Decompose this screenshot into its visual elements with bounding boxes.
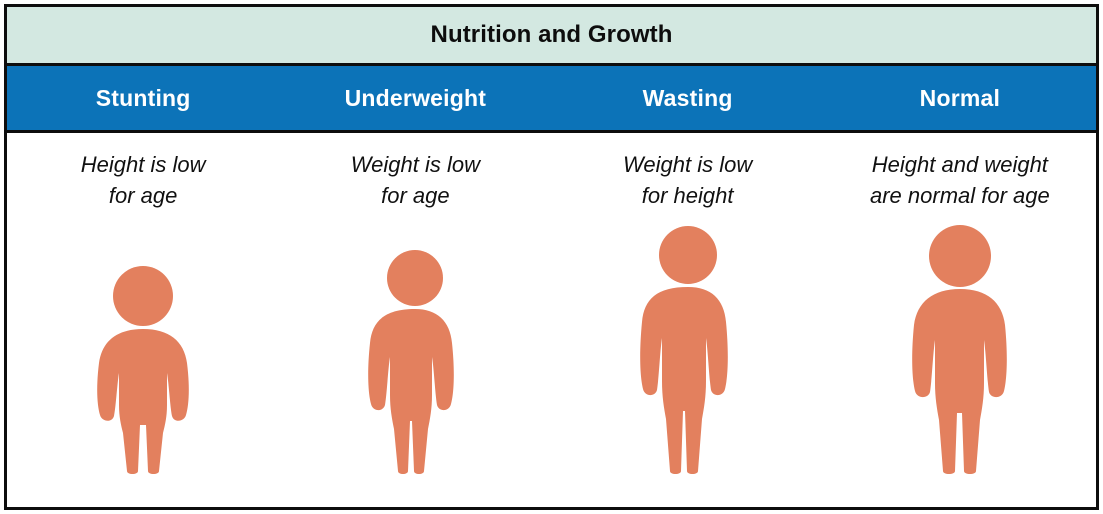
column-header-label: Underweight	[345, 85, 486, 112]
person-icon-tall-thin	[363, 249, 467, 477]
table-title-band: Nutrition and Growth	[7, 7, 1096, 66]
column-header-wasting: Wasting	[552, 66, 824, 130]
caption-stunting: Height is low for age	[81, 149, 206, 211]
column-header-row: Stunting Underweight Wasting Normal	[7, 66, 1096, 133]
figure-wrap-stunting	[7, 265, 279, 477]
caption-wasting: Weight is low for height	[623, 149, 752, 211]
body-cell-normal: Height and weight are normal for age	[824, 133, 1096, 507]
nutrition-growth-table: Nutrition and Growth Stunting Underweigh…	[4, 4, 1099, 510]
page-title: Nutrition and Growth	[431, 21, 673, 49]
figure-wrap-wasting	[552, 225, 824, 477]
body-cell-stunting: Height is low for age	[7, 133, 279, 507]
figure-wrap-normal	[824, 225, 1096, 477]
table-body-row: Height is low for age Weight is low for …	[7, 133, 1096, 507]
caption-underweight: Weight is low for age	[351, 149, 480, 211]
column-header-normal: Normal	[824, 66, 1096, 130]
person-icon-tall-thin	[635, 225, 741, 477]
column-header-label: Stunting	[96, 85, 191, 112]
person-icon-tall-normal	[899, 225, 1021, 477]
body-cell-wasting: Weight is low for height	[552, 133, 824, 507]
person-icon-short-stocky	[84, 265, 202, 477]
column-header-label: Wasting	[643, 85, 733, 112]
body-cell-underweight: Weight is low for age	[279, 133, 551, 507]
caption-normal: Height and weight are normal for age	[870, 149, 1050, 211]
column-header-stunting: Stunting	[7, 66, 279, 130]
column-header-label: Normal	[920, 85, 1000, 112]
column-header-underweight: Underweight	[279, 66, 551, 130]
figure-wrap-underweight	[279, 249, 551, 477]
